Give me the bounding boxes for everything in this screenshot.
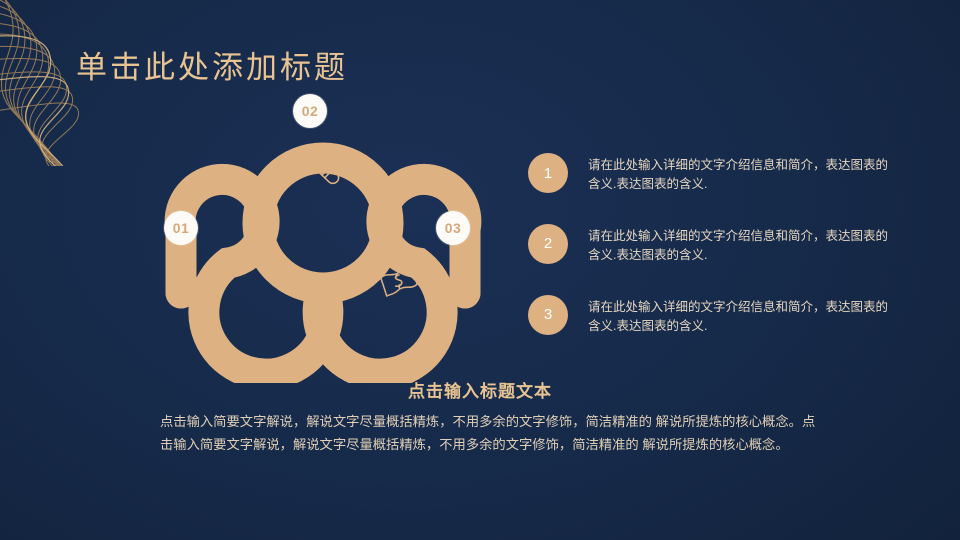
list-item[interactable]: 3 请在此处输入详细的文字介绍信息和简介，表达图表的含义.表达图表的含义.	[528, 294, 938, 337]
bottom-heading: 点击输入标题文本	[0, 377, 960, 402]
diamond-icon	[193, 258, 239, 304]
node-badge-03[interactable]: 03	[436, 211, 470, 245]
bullet-list: 1 请在此处输入详细的文字介绍信息和简介，表达图表的含义.表达图表的含义. 2 …	[528, 152, 938, 336]
bullet-text-3: 请在此处输入详细的文字介绍信息和简介，表达图表的含义.表达图表的含义.	[588, 294, 898, 337]
bullet-text-2: 请在此处输入详细的文字介绍信息和简介，表达图表的含义.表达图表的含义.	[588, 223, 898, 266]
bullet-text-1: 请在此处输入详细的文字介绍信息和简介，表达图表的含义.表达图表的含义.	[588, 152, 898, 195]
banknote-icon	[376, 258, 422, 304]
node-badge-01[interactable]: 01	[164, 211, 198, 245]
bottom-paragraph: 点击输入简要文字解说，解说文字尽量概括精炼，不用多余的文字修饰，简洁精准的 解说…	[160, 411, 820, 457]
node-badge-02[interactable]: 02	[293, 94, 327, 128]
list-item[interactable]: 1 请在此处输入详细的文字介绍信息和简介，表达图表的含义.表达图表的含义.	[528, 152, 938, 195]
bullet-number-1: 1	[528, 153, 568, 193]
bullet-number-3: 3	[528, 295, 568, 335]
triple-loop-diagram: 01 02 03	[118, 78, 528, 383]
list-item[interactable]: 2 请在此处输入详细的文字介绍信息和简介，表达图表的含义.表达图表的含义.	[528, 223, 938, 266]
pencil-icon	[303, 148, 349, 194]
slide-canvas: 单击此处添加标题	[0, 0, 960, 540]
bullet-number-2: 2	[528, 224, 568, 264]
